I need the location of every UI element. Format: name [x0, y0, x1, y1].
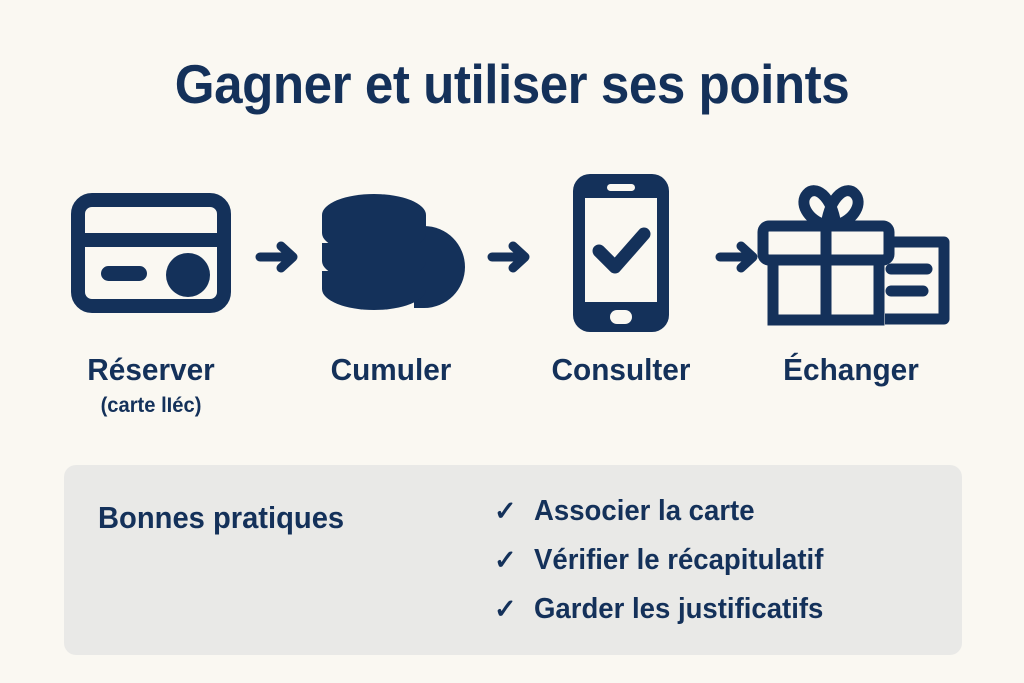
best-practices-list: ✓ Associer la carte ✓ Vérifier le récapi… [494, 495, 944, 642]
page-title: Gagner et utiliser ses points [36, 52, 988, 116]
smartphone-check-icon [526, 168, 716, 338]
step-label: Réserver [60, 352, 242, 388]
step-label: Cumuler [300, 352, 482, 388]
step-reserver: Réserver (carte lIéc) [56, 168, 246, 428]
list-item: ✓ Garder les justificatifs [494, 593, 944, 642]
steps-row: Réserver (carte lIéc) Cumuler [56, 168, 968, 428]
step-label: Échanger [760, 352, 942, 388]
step-echanger: Échanger [756, 168, 946, 428]
step-sublabel: (carte lIéc) [60, 394, 242, 418]
coin-stack-icon [296, 168, 486, 338]
step-cumuler: Cumuler [296, 168, 486, 428]
best-practices-panel: Bonnes pratiques ✓ Associer la carte ✓ V… [64, 465, 962, 655]
list-item-label: Associer la carte [534, 495, 755, 528]
list-item-label: Vérifier le récapitulatif [534, 544, 823, 577]
check-icon: ✓ [494, 596, 534, 623]
check-icon: ✓ [494, 498, 534, 525]
check-icon: ✓ [494, 547, 534, 574]
step-label: Consulter [530, 352, 712, 388]
step-consulter: Consulter [526, 168, 716, 428]
panel-heading: Bonnes pratiques [98, 500, 344, 536]
credit-card-icon [56, 168, 246, 338]
infographic-root: Gagner et utiliser ses points Réserver (… [0, 0, 1024, 683]
list-item: ✓ Vérifier le récapitulatif [494, 544, 944, 593]
list-item: ✓ Associer la carte [494, 495, 944, 544]
list-item-label: Garder les justificatifs [534, 593, 823, 626]
gift-voucher-icon [756, 168, 946, 338]
